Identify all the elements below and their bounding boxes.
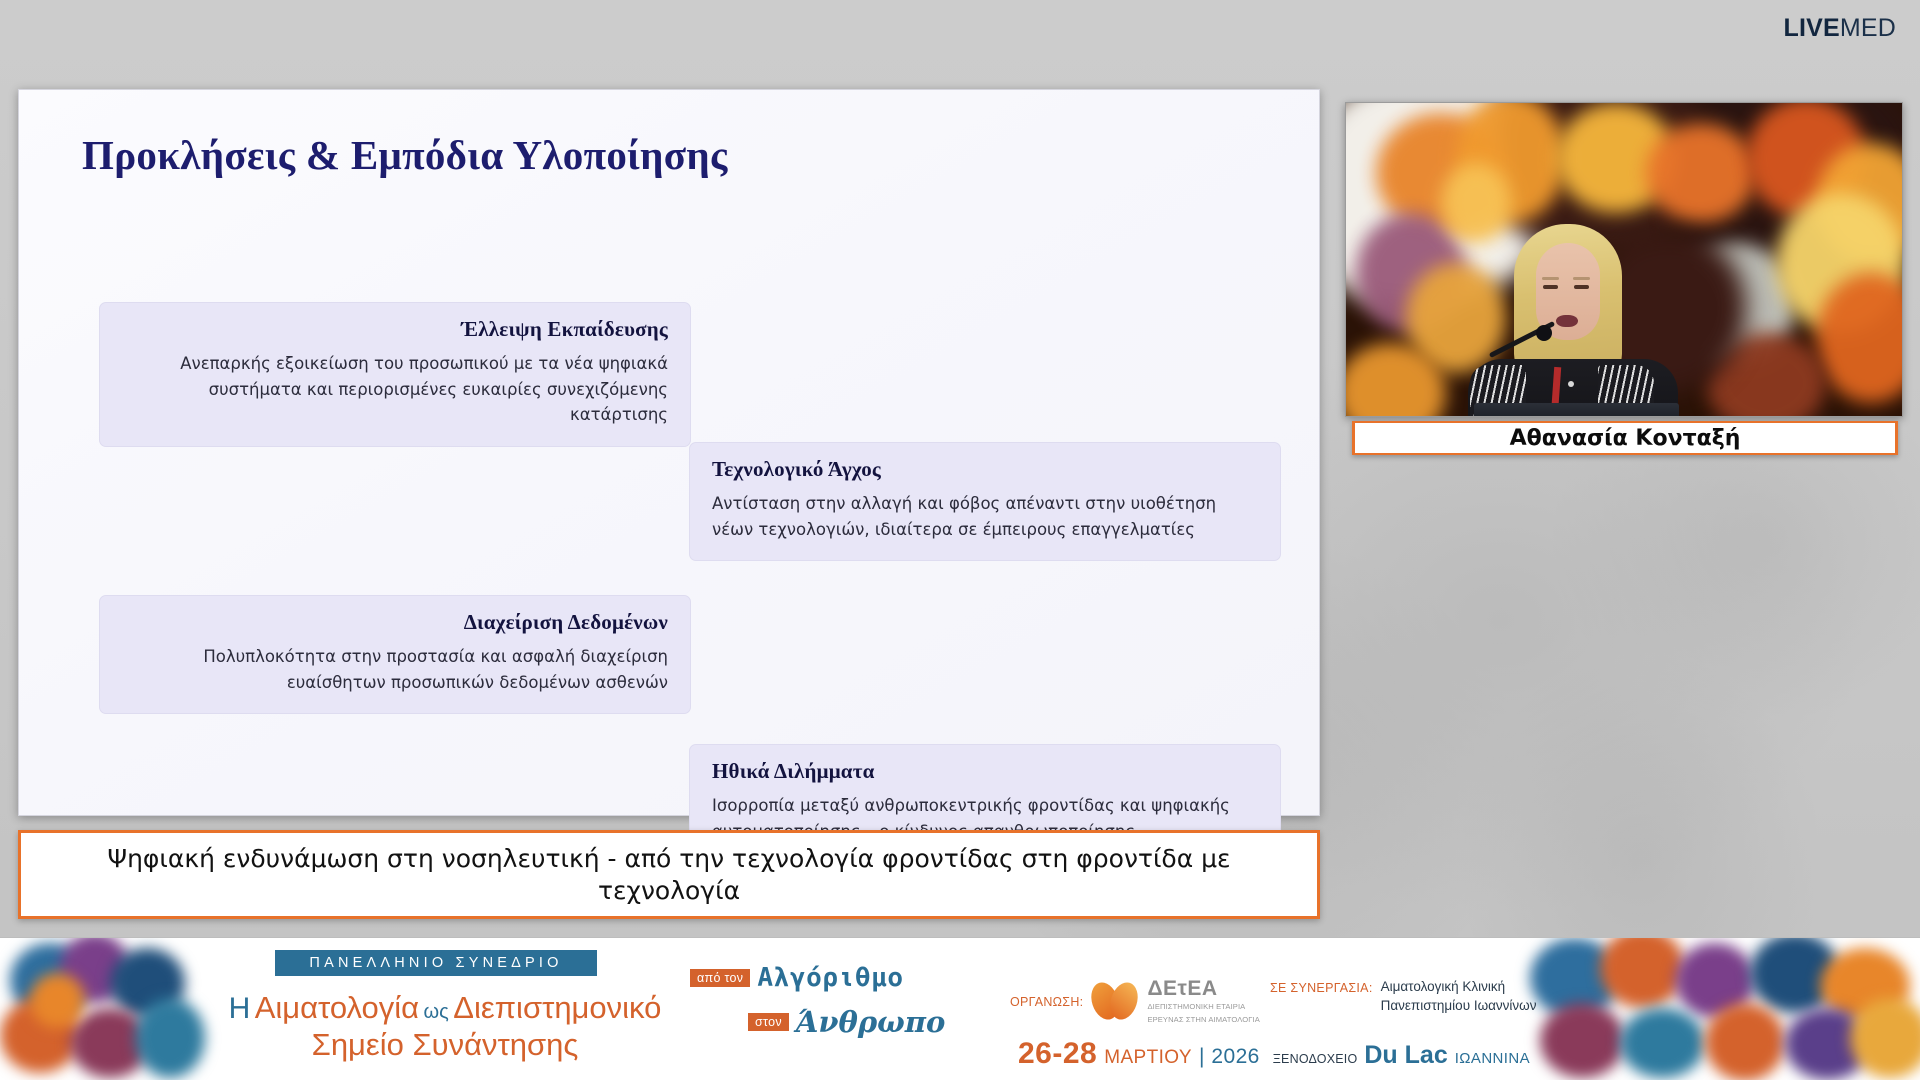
organizer-sub-1: ΔΙΕΠΙΣΤΗΜΟΝΙΚΗ ΕΤΑΙΡΙΑ [1147, 1002, 1259, 1012]
speaker-name: Αθανασία Κονταξή [1510, 426, 1741, 451]
speaker-video[interactable] [1345, 102, 1903, 417]
session-title-bar: Ψηφιακή ενδυνάμωση στη νοσηλευτική - από… [18, 830, 1320, 919]
card-heading: Ηθικά Διλήμματα [712, 759, 1258, 784]
algo-word: Αλγόριθμο [757, 963, 903, 993]
challenge-card-tech-anxiety: Τεχνολογικό Άγχος Αντίσταση στην αλλαγή … [689, 442, 1281, 561]
cooperation-line-1: Αιματολογική Κλινική [1381, 978, 1537, 997]
banner-title-main-1: Αιματολογία [255, 990, 419, 1025]
slide-title: Προκλήσεις & Εμπόδια Υλοποίησης [82, 131, 728, 179]
card-body: Αντίσταση στην αλλαγή και φόβος απέναντι… [712, 491, 1258, 542]
venue-name: Du Lac [1364, 1041, 1447, 1070]
banner-badge-text: ΠΑΝΕΛΛΗΝΙΟ ΣΥΝΕΔΡΙΟ [309, 955, 562, 971]
card-heading: Διαχείριση Δεδομένων [122, 610, 668, 635]
logo-live-text: LIVE [1783, 14, 1839, 42]
speaker-nameplate: Αθανασία Κονταξή [1352, 421, 1898, 455]
date-days: 26-28 [1018, 1037, 1097, 1071]
banner-title-article: Η [229, 992, 251, 1025]
banner-title-ws: ως [424, 1001, 449, 1023]
anthropos-word: Άνθρωπο [796, 1005, 945, 1039]
session-title-text: Ψηφιακή ενδυνάμωση στη νοσηλευτική - από… [65, 843, 1273, 907]
organizer-name: ΔΕτΕΑ [1147, 978, 1259, 999]
card-body: Ανεπαρκής εξοικείωση του προσωπικού με τ… [122, 351, 668, 428]
presentation-slide[interactable]: Προκλήσεις & Εμπόδια Υλοποίησης Έλλειψη … [18, 89, 1320, 816]
card-heading: Έλλειψη Εκπαίδευσης [122, 317, 668, 342]
challenge-card-data-management: Διαχείριση Δεδομένων Πολυπλοκότητα στην … [99, 595, 691, 714]
date-year: 2026 [1211, 1045, 1259, 1069]
card-heading: Τεχνολογικό Άγχος [712, 457, 1258, 482]
cooperation-line-2: Πανεπιστημίου Ιωαννίνων [1381, 997, 1537, 1016]
card-body: Πολυπλοκότητα στην προστασία και ασφαλή … [122, 644, 668, 695]
logo-med-text: MED [1840, 14, 1896, 42]
banner-title: Η Αιματολογία ως Διεπιστημονικό Σημείο Σ… [195, 990, 695, 1063]
banner-art-left [0, 938, 205, 1080]
venue-city: ΙΩΑΝΝΙΝΑ [1455, 1050, 1530, 1067]
deteta-text: ΔΕτΕΑ ΔΙΕΠΙΣΤΗΜΟΝΙΚΗ ΕΤΑΙΡΙΑ ΕΡΕΥΝΑΣ ΣΤΗ… [1147, 978, 1259, 1025]
cooperation-text: Αιματολογική Κλινική Πανεπιστημίου Ιωανν… [1381, 978, 1537, 1016]
deteta-logo-icon [1092, 982, 1138, 1022]
date-separator: | [1199, 1045, 1204, 1069]
banner-badge: ΠΑΝΕΛΛΗΝΙΟ ΣΥΝΕΔΡΙΟ [275, 950, 597, 976]
session-title-inner: Ψηφιακή ενδυνάμωση στη νοσηλευτική - από… [21, 833, 1317, 916]
banner-date-venue: 26-28 ΜΑΡΤΙΟΥ | 2026 ΞΕΝΟΔΟΧΕΙΟ Du Lac Ι… [1018, 1037, 1530, 1071]
banner-cooperation: ΣΕ ΣΥΝΕΡΓΑΣΙΑ: Αιματολογική Κλινική Πανε… [1270, 978, 1536, 1016]
banner-title-line2: Σημείο Συνάντησης [312, 1027, 579, 1062]
banner-algorithm-block: από τονΑλγόριθμο στονΆνθρωπο [690, 963, 980, 1068]
organizer-sub-2: ΕΡΕΥΝΑΣ ΣΤΗΝ ΑΙΜΑΤΟΛΟΓΙΑ [1147, 1015, 1259, 1025]
banner-organizer: ΟΡΓΑΝΩΣΗ: ΔΕτΕΑ ΔΙΕΠΙΣΤΗΜΟΝΙΚΗ ΕΤΑΙΡΙΑ Ε… [1010, 978, 1260, 1025]
date-month: ΜΑΡΤΙΟΥ [1104, 1047, 1192, 1069]
banner-art-right [1520, 938, 1920, 1080]
algo-tag-to: στον [748, 1013, 789, 1031]
challenge-card-training: Έλλειψη Εκπαίδευσης Ανεπαρκής εξοικείωση… [99, 302, 691, 447]
organizer-label: ΟΡΓΑΝΩΣΗ: [1010, 995, 1083, 1009]
speaker-nameplate-inner: Αθανασία Κονταξή [1355, 423, 1895, 453]
algo-tag-from: από τον [690, 969, 750, 987]
cooperation-label: ΣΕ ΣΥΝΕΡΓΑΣΙΑ: [1270, 978, 1373, 995]
speaker-figure [1346, 103, 1902, 416]
venue-label: ΞΕΝΟΔΟΧΕΙΟ [1273, 1052, 1358, 1066]
banner-title-main-2: Διεπιστημονικό [453, 990, 661, 1025]
livemed-logo: LIVEMED [1783, 16, 1896, 41]
